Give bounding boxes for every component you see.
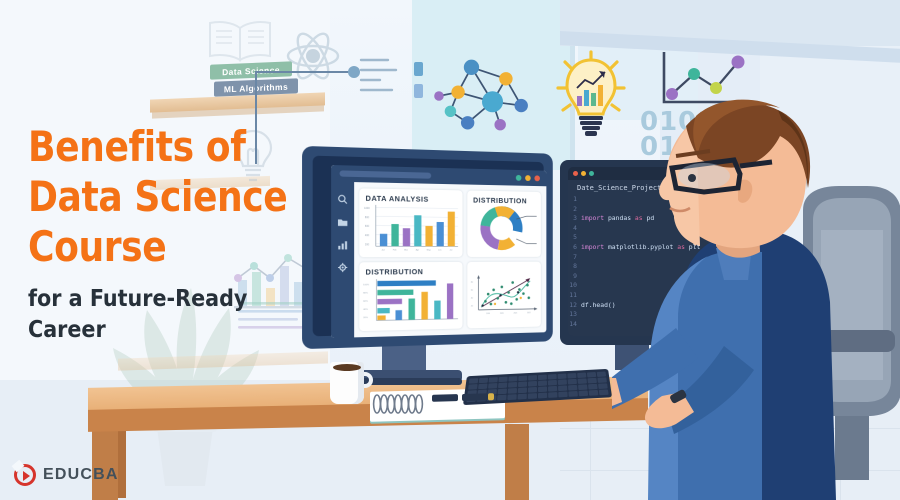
svg-text:Jun: Jun (438, 249, 442, 251)
educba-logo[interactable]: EDUCBA (14, 464, 119, 486)
search-icon[interactable] (337, 194, 347, 204)
gear-icon[interactable] (337, 262, 347, 272)
network-graph-icon (422, 52, 542, 140)
svg-text:40: 40 (471, 298, 473, 300)
donut-chart (470, 203, 538, 254)
dashed-bars-icon (358, 55, 400, 99)
svg-text:Jul: Jul (450, 249, 453, 251)
card-distribution-bars[interactable]: DISTRIBUTION 100%80%60% 40%20% (359, 262, 462, 331)
svg-text:80: 80 (471, 282, 473, 284)
desk-leg-left (92, 420, 118, 500)
card-data-analysis[interactable]: DATA ANALYSIS 1000800600 400200 (359, 188, 462, 257)
svg-text:2020: 2020 (500, 313, 504, 315)
headline-line-3: Course (28, 222, 286, 272)
headline-block: Benefits ofData ScienceCoursefor a Futur… (28, 122, 328, 346)
svg-text:200: 200 (365, 243, 370, 246)
person-at-computer (612, 96, 862, 500)
desk-leg-right (505, 424, 529, 500)
svg-text:2021: 2021 (514, 312, 518, 314)
dashboard-window-dots (516, 175, 540, 181)
editor-gutter: 1234567 891011121314 (568, 195, 581, 336)
svg-text:Jan: Jan (381, 249, 385, 251)
headline-line-2: Data Science (28, 172, 286, 222)
svg-text:20%: 20% (363, 317, 368, 319)
coffee-mug (330, 358, 372, 404)
headline-line-1: Benefits of (28, 122, 286, 172)
scatter-chart: 80604020 (470, 266, 538, 325)
play-circle-icon (14, 464, 36, 486)
svg-text:800: 800 (365, 216, 370, 219)
logo-text: EDUCBA (43, 466, 119, 484)
mixed-bar-chart: 100%80%60% 40%20% (362, 275, 459, 328)
bar-chart: 1000800600 400200 (362, 202, 459, 254)
svg-text:Apr: Apr (416, 248, 420, 251)
subheadline-block: for a Future-ReadyCareer (28, 284, 298, 346)
svg-text:2019: 2019 (486, 313, 490, 315)
svg-text:20: 20 (471, 305, 473, 307)
svg-text:May: May (427, 249, 432, 251)
subheadline-line-2: Career (28, 315, 298, 346)
svg-text:100%: 100% (363, 284, 369, 286)
dashboard-sidebar (331, 182, 354, 338)
svg-text:60: 60 (471, 290, 473, 292)
svg-text:40%: 40% (363, 309, 368, 311)
svg-text:600: 600 (365, 225, 370, 228)
open-book-icon (205, 18, 275, 64)
svg-text:Feb: Feb (393, 249, 397, 251)
dashboard-cards: DATA ANALYSIS 1000800600 400200 (359, 188, 541, 331)
svg-text:1000: 1000 (364, 207, 370, 210)
banner-illustration: Data Science ML Algorithms (0, 0, 900, 500)
bar-chart-icon[interactable] (337, 240, 347, 250)
svg-text:80%: 80% (363, 292, 368, 294)
analytics-dashboard[interactable]: DATA ANALYSIS 1000800600 400200 (331, 165, 546, 338)
subheadline-line-1: for a Future-Ready (28, 284, 298, 315)
dashboard-urlbar[interactable] (340, 170, 432, 178)
svg-text:400: 400 (365, 234, 370, 237)
left-monitor: DATA ANALYSIS 1000800600 400200 (305, 150, 560, 345)
notebook-spiral (372, 389, 432, 419)
svg-text:Mar: Mar (404, 249, 408, 251)
svg-text:2022: 2022 (527, 312, 531, 314)
folder-icon[interactable] (337, 217, 347, 227)
card-scatter[interactable]: 80604020 (467, 262, 541, 329)
svg-text:60%: 60% (363, 301, 368, 303)
card-distribution-pie[interactable]: DISTRIBUTION (467, 190, 541, 256)
